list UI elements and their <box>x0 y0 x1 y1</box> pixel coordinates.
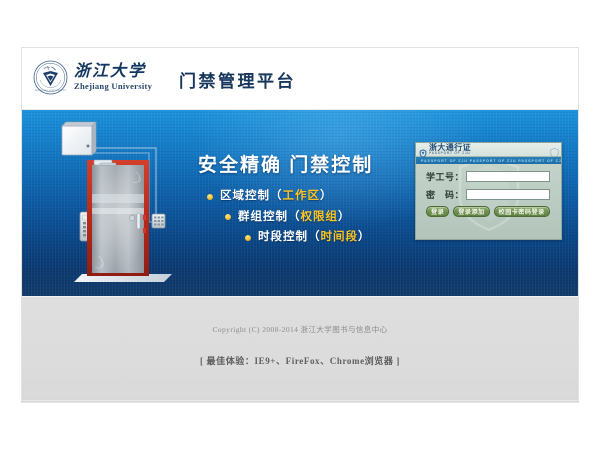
feature-item-time-control: 时段控制（ 时间段 ） <box>245 232 422 244</box>
password-label: 密 码： <box>426 188 466 201</box>
brand-name-en: Zhejiang University <box>74 81 152 91</box>
door-access-control-illustration <box>44 116 184 294</box>
login-add-button[interactable]: 登录添加 <box>453 206 489 217</box>
feature-tail: ） <box>338 212 351 224</box>
feature-item-group-control: 群组控制（ 权限组 ） <box>225 212 422 224</box>
bullet-dot-icon <box>225 214 231 220</box>
login-strip-text: PASSPORT OF ZJU PASSPORT OF ZJU PASSPORT… <box>416 159 561 163</box>
feature-label: 群组控制（ <box>238 212 301 224</box>
banner-headline: 安全精确 门禁控制 <box>198 150 373 177</box>
campus-card-login-button[interactable]: 校园卡密码登录 <box>494 206 550 217</box>
login-button[interactable]: 登录 <box>426 206 449 217</box>
feature-accent: 时间段 <box>321 232 359 244</box>
shield-icon-secondary <box>550 145 559 155</box>
login-titlebar: 浙大通行证 PASSPORT OF ZJU <box>416 143 561 157</box>
student-staff-id-label: 学工号： <box>426 170 466 183</box>
brand-names: 浙江大学 Zhejiang University <box>74 64 152 92</box>
hero-banner: 安全精确 门禁控制 区域控制（ 工作区 ） 群组控制（ 权限组 ） 时段控制（ … <box>22 110 578 296</box>
login-button-row: 登录 登录添加 校园卡密码登录 <box>416 206 561 217</box>
controller-box <box>62 122 96 155</box>
field-row-student-staff-id: 学工号： <box>416 170 561 183</box>
page-title: 门禁管理平台 <box>179 67 296 92</box>
svg-text:ZHEJIANG UNIVERSITY: ZHEJIANG UNIVERSITY <box>35 89 67 92</box>
shield-icon <box>419 145 427 154</box>
feature-accent: 工作区 <box>283 191 321 203</box>
banner-feature-list: 区域控制（ 工作区 ） 群组控制（ 权限组 ） 时段控制（ 时间段 ） <box>207 191 422 253</box>
feature-label: 时段控制（ <box>258 232 321 244</box>
card-reader <box>152 214 165 228</box>
login-title-text: 浙大通行证 PASSPORT OF ZJU <box>429 144 471 156</box>
password-input[interactable] <box>466 189 550 200</box>
feature-tail: ） <box>358 232 371 244</box>
bullet-dot-icon <box>245 235 251 241</box>
login-form: 学工号： 密 码： 登录 登录添加 校园卡密码登录 <box>416 164 561 217</box>
bullet-dot-icon <box>207 194 213 200</box>
browser-recommendation-text: [ 最佳体验：IE9+、FireFox、Chrome浏览器 ] <box>22 354 578 367</box>
brand-name-cn: 浙江大学 <box>74 64 152 81</box>
feature-tail: ） <box>320 191 333 203</box>
login-passport-strip: PASSPORT OF ZJU PASSPORT OF ZJU PASSPORT… <box>416 157 561 164</box>
zhejiang-university-seal-icon: ZHEJIANG UNIVERSITY <box>33 60 68 95</box>
copyright-text: Copyright (C) 2008-2014 浙江大学图书与信息中心 <box>22 324 578 335</box>
footer-divider <box>22 400 578 402</box>
page-container: ZHEJIANG UNIVERSITY 浙江大学 Zhejiang Univer… <box>21 47 579 403</box>
login-panel: 浙大通行证 PASSPORT OF ZJU PASSPORT OF ZJU PA… <box>415 142 562 240</box>
brand-logo[interactable]: ZHEJIANG UNIVERSITY 浙江大学 Zhejiang Univer… <box>33 60 152 95</box>
feature-label: 区域控制（ <box>220 191 283 203</box>
field-row-password: 密 码： <box>416 188 561 201</box>
student-staff-id-input[interactable] <box>466 171 550 182</box>
site-footer: Copyright (C) 2008-2014 浙江大学图书与信息中心 [ 最佳… <box>22 296 578 402</box>
footer-text-block: Copyright (C) 2008-2014 浙江大学图书与信息中心 [ 最佳… <box>22 324 578 367</box>
feature-item-area-control: 区域控制（ 工作区 ） <box>207 191 422 203</box>
feature-accent: 权限组 <box>301 212 339 224</box>
site-header: ZHEJIANG UNIVERSITY 浙江大学 Zhejiang Univer… <box>22 48 578 110</box>
login-title-en: PASSPORT OF ZJU <box>429 152 471 155</box>
